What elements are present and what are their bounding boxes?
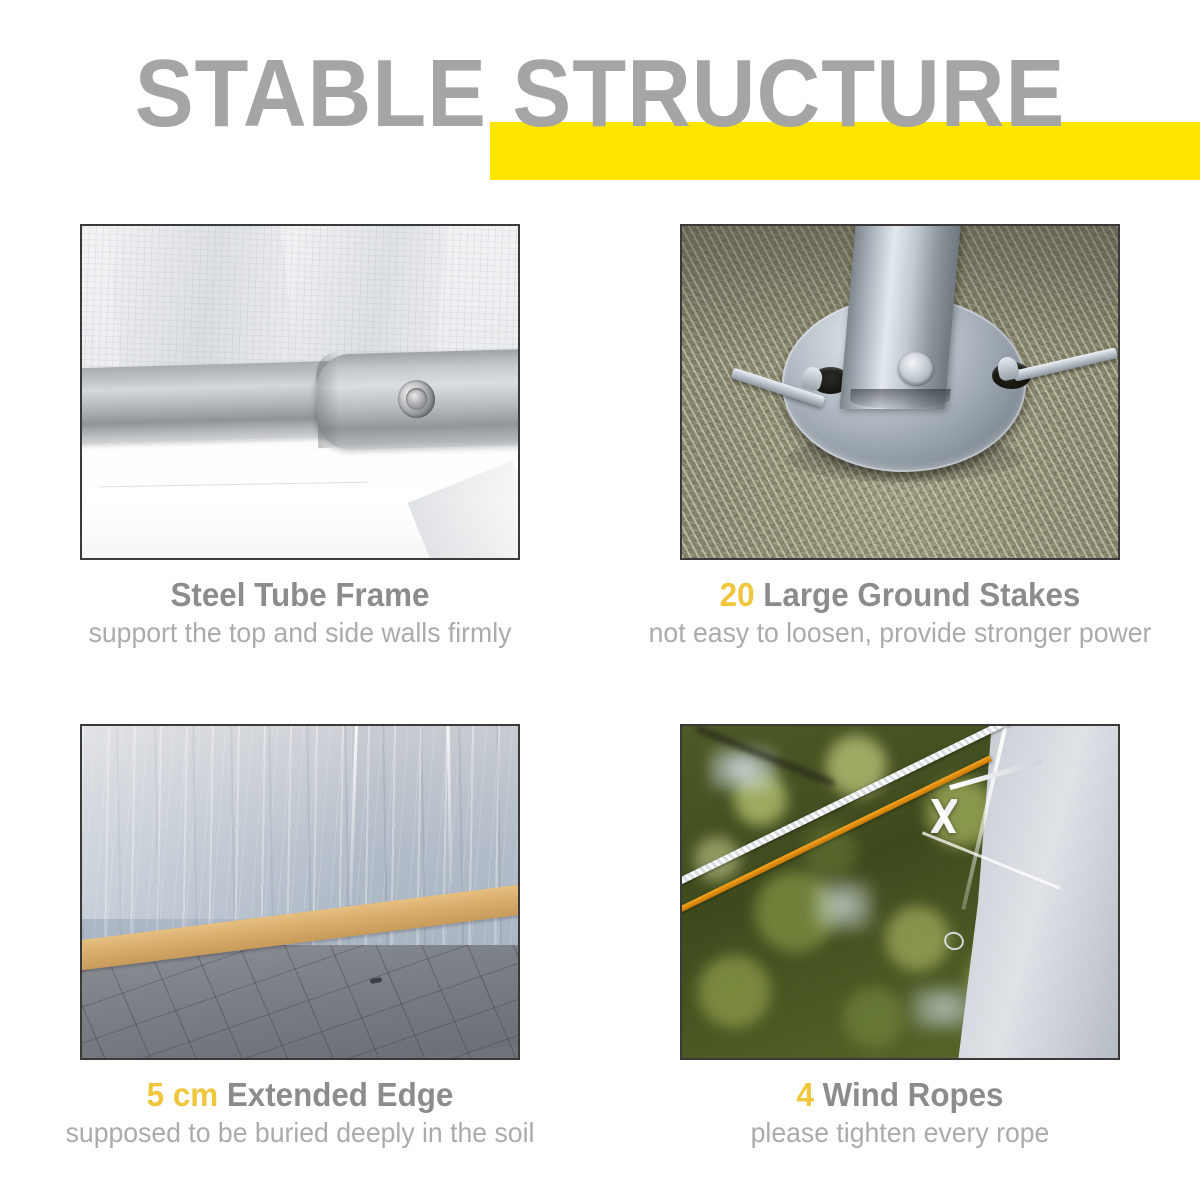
caption-title-text: Steel Tube Frame [170, 576, 429, 613]
caption-number: 4 [796, 1076, 813, 1113]
caption-title: Steel Tube Frame [34, 576, 566, 614]
caption-subtitle: supposed to be buried deeply in the soil [34, 1116, 566, 1150]
steel-pole [839, 224, 960, 409]
caption-title-text: Large Ground Stakes [763, 576, 1080, 613]
extended-edge-photo [80, 724, 520, 1060]
caption-title: 4 Wind Ropes [634, 1076, 1166, 1114]
steel-tube-frame-photo [80, 224, 520, 560]
page-header: STABLE STRUCTURE [0, 0, 1200, 200]
ground-stake-base-plate-photo [680, 224, 1120, 560]
caption-title: 5 cm Extended Edge [34, 1076, 566, 1114]
caption-subtitle: not easy to loosen, provide stronger pow… [634, 616, 1166, 650]
bolt-hole-icon [406, 388, 428, 410]
caption-block: 20 Large Ground Stakes not easy to loose… [620, 576, 1180, 650]
feature-grid: Steel Tube Frame support the top and sid… [0, 200, 1200, 1200]
caption-subtitle: please tighten every rope [634, 1116, 1166, 1150]
rope-knot-icon [931, 799, 957, 833]
caption-block: 5 cm Extended Edge supposed to be buried… [20, 1076, 580, 1150]
caption-title: 20 Large Ground Stakes [634, 576, 1166, 614]
wind-ropes-photo [680, 724, 1120, 1060]
tarp-sunlight-highlight [82, 726, 352, 919]
page-title: STABLE STRUCTURE [48, 42, 1152, 146]
pole-base-band [849, 389, 951, 409]
caption-title-text: Wind Ropes [823, 1076, 1004, 1113]
caption-block: 4 Wind Ropes please tighten every rope [620, 1076, 1180, 1150]
center-bolt-icon [898, 352, 933, 385]
caption-block: Steel Tube Frame support the top and sid… [20, 576, 580, 650]
steel-tube-sleeve-edge [316, 352, 340, 449]
feature-cell-steel-tube-frame: Steel Tube Frame support the top and sid… [0, 200, 600, 700]
caption-title-text: Extended Edge [227, 1076, 453, 1113]
feature-cell-wind-ropes: 4 Wind Ropes please tighten every rope [600, 700, 1200, 1200]
feature-cell-extended-edge: 5 cm Extended Edge supposed to be buried… [0, 700, 600, 1200]
sky-gap [813, 879, 874, 932]
feature-cell-large-ground-stakes: 20 Large Ground Stakes not easy to loose… [600, 200, 1200, 700]
caption-subtitle: support the top and side walls firmly [34, 616, 566, 650]
caption-number: 20 [720, 576, 755, 613]
caption-number: 5 cm [147, 1076, 218, 1113]
